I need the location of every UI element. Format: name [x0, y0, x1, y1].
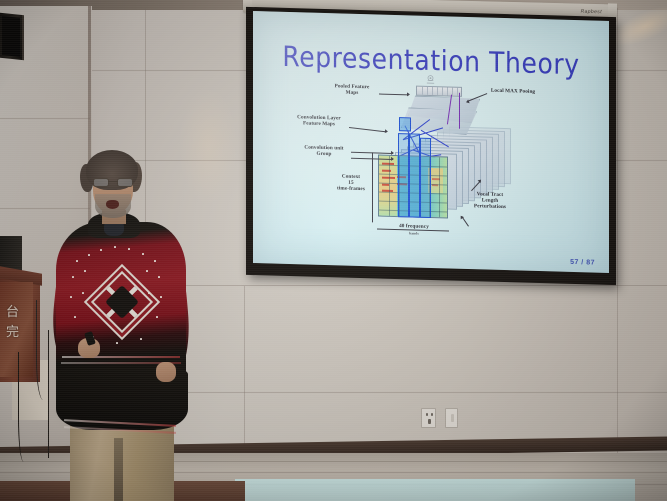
floor-cable	[18, 352, 32, 462]
label-frequency-axis-sub: bands	[389, 230, 439, 238]
pooled-feature-map-slab	[416, 86, 462, 97]
floor-light-reflection	[235, 479, 635, 501]
label-convolution-unit-group: Convolution unit Group	[299, 144, 349, 158]
label-convolution-layer-feature-maps: Convolution Layer Feature Maps	[291, 114, 347, 128]
wall-switch[interactable]	[445, 408, 458, 428]
wall-speaker	[0, 13, 24, 61]
wall-panel-seam	[0, 118, 90, 119]
mouth	[106, 200, 119, 209]
leg-separation	[114, 438, 123, 501]
lecture-hall-photo: 台 完 Rapbest Representation Theory	[0, 0, 667, 501]
projection-screen: Representation Theory	[246, 7, 616, 285]
label-local-max-pooling: Local MAX Pooing	[485, 88, 541, 96]
label-pooled-feature-maps: Pooled Feature Maps	[328, 83, 376, 97]
lens-left	[93, 178, 109, 187]
context-axis-line	[372, 152, 373, 222]
wall-outlet	[421, 408, 436, 428]
convolution-unit-column	[420, 138, 431, 218]
speaker-grille-icon	[2, 16, 20, 57]
lens-right	[117, 178, 133, 187]
convolution-unit-column	[398, 133, 409, 217]
presenter	[48, 150, 193, 501]
slide-page-number: 57 / 87	[570, 259, 595, 267]
podium-character-2: 完	[6, 326, 19, 339]
glasses-bridge	[109, 181, 117, 182]
label-vocal-tract-perturbations: Vocal Tract Length Perturbations	[465, 191, 515, 211]
label-context-frames: Context 15 time-frames	[331, 173, 371, 193]
housing-brand-label: Rapbest	[581, 9, 602, 16]
hand-right	[156, 362, 176, 382]
podium-character-1: 台	[6, 306, 19, 319]
convolution-unit-column	[409, 133, 420, 217]
wall-panel-seam	[244, 286, 245, 460]
cnn-speech-architecture-diagram: Pooled Feature Maps Local MAX Pooing Con…	[253, 73, 609, 273]
pooling-connector-line	[459, 93, 460, 129]
eyeglasses	[92, 178, 134, 187]
projected-slide: Representation Theory	[253, 11, 609, 273]
convolution-unit	[399, 117, 411, 131]
